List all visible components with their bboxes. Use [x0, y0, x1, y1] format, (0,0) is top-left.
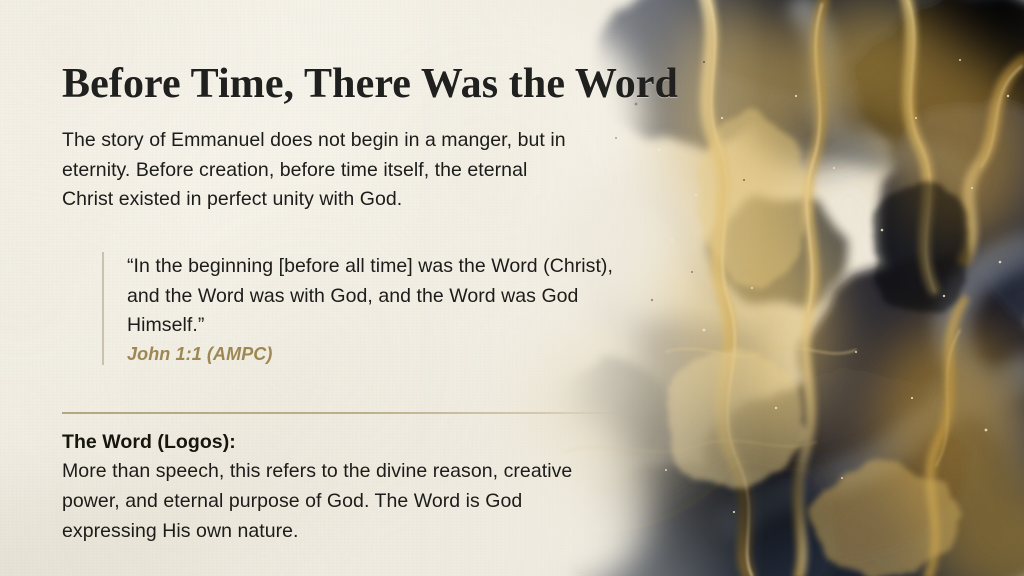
slide-root: Before Time, There Was the Word The stor…: [0, 0, 1024, 576]
intro-paragraph: The story of Emmanuel does not begin in …: [62, 126, 582, 215]
definition-note: The Word (Logos): More than speech, this…: [62, 428, 582, 546]
definition-body: More than speech, this refers to the div…: [62, 457, 582, 546]
definition-term: The Word (Logos):: [62, 428, 582, 457]
section-divider: [62, 412, 618, 414]
content-column: Before Time, There Was the Word The stor…: [62, 0, 622, 576]
scripture-quote-block: “In the beginning [before all time] was …: [102, 252, 622, 365]
scripture-quote-text: “In the beginning [before all time] was …: [127, 252, 622, 341]
page-title: Before Time, There Was the Word: [62, 62, 678, 106]
scripture-citation: John 1:1 (AMPC): [127, 344, 622, 365]
